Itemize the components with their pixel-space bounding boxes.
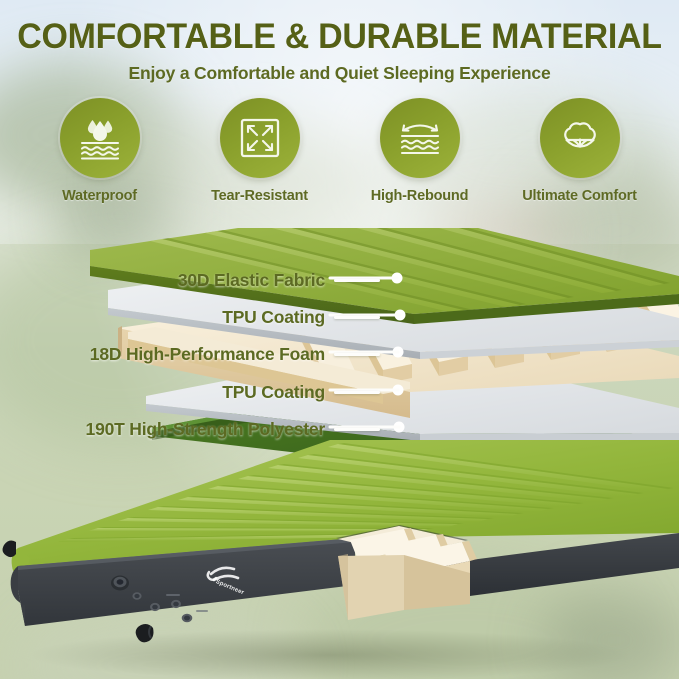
feature-item-high-rebound: High-Rebound [359,98,481,204]
feature-label: Tear-Resistant [199,188,321,204]
feature-icon-circle [220,98,300,178]
callout-layer-foam: 18D High-Performance Foam [90,344,380,365]
feature-label: Waterproof [39,188,161,204]
water-drops-waves-icon [75,113,125,163]
mattress-body [3,440,679,642]
feature-item-tear-resistant: Tear-Resistant [199,98,321,204]
callout-label: 30D Elastic Fabric [178,270,325,291]
callout-label: TPU Coating [222,307,325,328]
product-image-sleeping-pad [0,430,679,679]
feature-icon-circle [540,98,620,178]
feature-item-waterproof: Waterproof [39,98,161,204]
callout-leader-line [334,353,380,356]
feature-icon-circle [380,98,460,178]
callout-layer-tpu-coating-bottom: TPU Coating [222,382,380,403]
page-title: COMFORTABLE & DURABLE MATERIAL [10,17,669,57]
feature-list: Waterproof Tear-Resistant [0,98,679,204]
page-subtitle: Enjoy a Comfortable and Quiet Sleeping E… [0,63,679,84]
callout-layer-elastic-fabric: 30D Elastic Fabric [178,270,380,291]
product-shadow [30,629,630,679]
feature-label: Ultimate Comfort [519,188,641,204]
rebound-arc-waves-icon [395,113,445,163]
callout-leader-line [334,316,380,319]
feature-item-ultimate-comfort: Ultimate Comfort [519,98,641,204]
foam-cutaway-section [336,525,477,620]
callout-label: TPU Coating [222,382,325,403]
square-expand-arrows-icon [235,113,285,163]
callout-leader-line [334,391,380,394]
feature-icon-circle [60,98,140,178]
callout-leader-line [334,279,380,282]
cotton-cloud-icon [555,113,605,163]
callout-layer-tpu-coating-top: TPU Coating [222,307,380,328]
callout-label: 18D High-Performance Foam [90,344,325,365]
feature-label: High-Rebound [359,188,481,204]
header: COMFORTABLE & DURABLE MATERIAL Enjoy a C… [0,0,679,84]
